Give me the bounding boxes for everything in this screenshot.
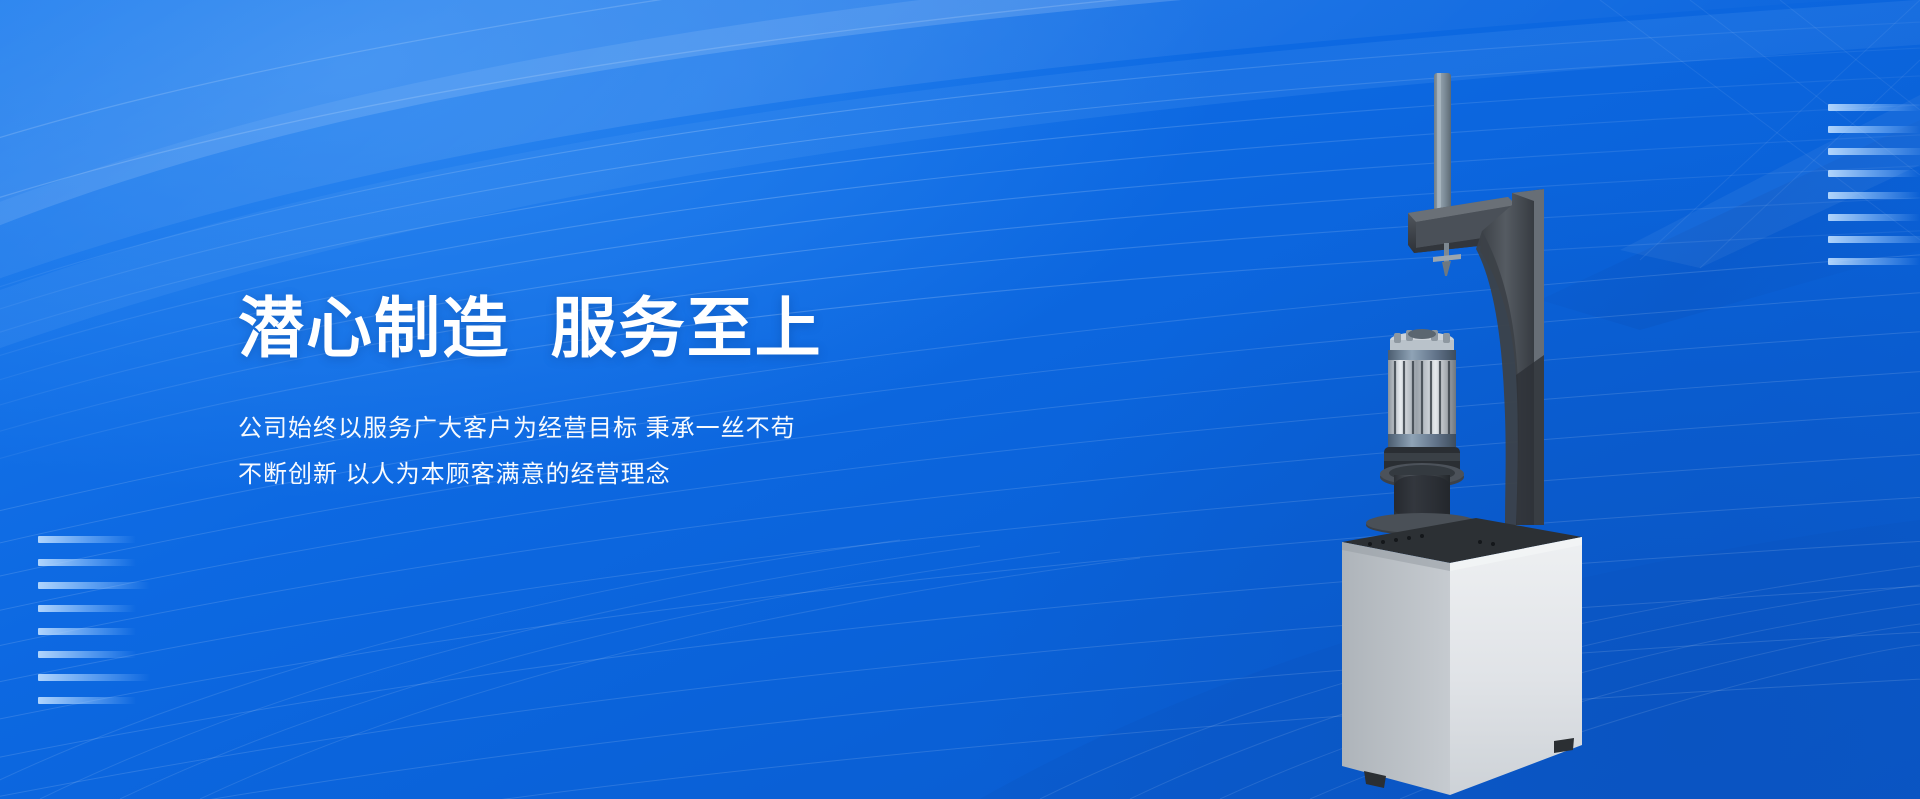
gradient-bar-stack-left (38, 536, 150, 704)
decor-bar (38, 628, 136, 635)
decor-bar (1828, 214, 1920, 221)
decor-bar (1828, 126, 1920, 133)
decor-bar (1828, 192, 1920, 199)
product-machine-illustration (1330, 55, 1610, 799)
decor-bar (38, 651, 136, 658)
decor-bar (38, 559, 136, 566)
decor-bar (38, 582, 150, 589)
gradient-bar-stack-right (1828, 104, 1920, 265)
decor-bar (1828, 236, 1920, 243)
decor-bar (38, 697, 136, 704)
hero-subtitle: 公司始终以服务广大客户为经营目标 秉承一丝不苟 不断创新 以人为本顾客满意的经营… (238, 406, 978, 497)
decor-bar (38, 605, 136, 612)
finned-cylindrical-tooling-head (1388, 329, 1456, 447)
hero-headline: 潜心制造 服务至上 (238, 292, 978, 366)
cabinet-enclosure (1342, 537, 1582, 795)
curved-c-frame-column (1476, 189, 1544, 525)
decor-bar (1828, 258, 1920, 265)
decor-bar (1828, 104, 1920, 111)
hero-banner: 潜心制造 服务至上 公司始终以服务广大客户为经营目标 秉承一丝不苟 不断创新 以… (0, 0, 1920, 799)
decor-bar (38, 536, 136, 543)
hero-subtitle-line-1: 公司始终以服务广大客户为经营目标 秉承一丝不苟 (238, 406, 978, 452)
decor-bar (1828, 148, 1920, 155)
vertical-steel-ram-rod (1434, 73, 1451, 225)
hero-text-block: 潜心制造 服务至上 公司始终以服务广大客户为经营目标 秉承一丝不苟 不断创新 以… (238, 292, 978, 497)
hero-subtitle-line-2: 不断创新 以人为本顾客满意的经营理念 (238, 452, 978, 498)
decor-bar (38, 674, 150, 681)
decor-bar (1828, 170, 1920, 177)
